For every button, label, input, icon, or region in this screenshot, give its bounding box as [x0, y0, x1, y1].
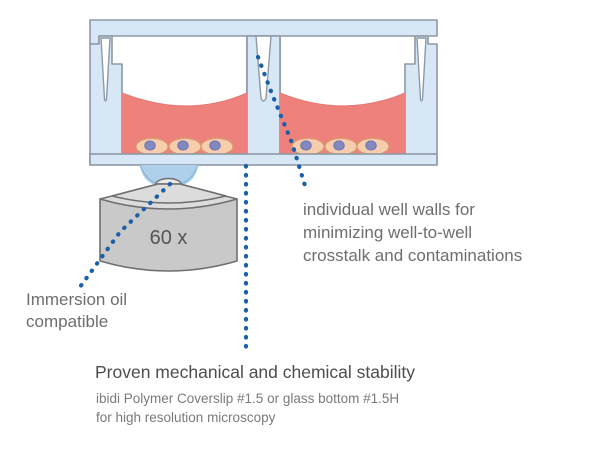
cell [292, 138, 324, 154]
callout-immersion-oil-line2: compatible [26, 312, 108, 331]
cell [136, 138, 168, 154]
polymer-coverslip-bottom [90, 154, 437, 165]
objective-magnification-label: 60 x [150, 227, 188, 249]
callout-well-walls-line1: individual well walls for [303, 200, 475, 219]
cell [169, 138, 201, 154]
microscope-objective: 60 x [100, 184, 237, 271]
cell-layer-right [292, 138, 389, 154]
cell-layer-left [136, 138, 233, 154]
cell [325, 138, 357, 154]
cell [201, 138, 233, 154]
cell [357, 138, 389, 154]
callout-stability-subline-2: for high resolution microscopy [96, 410, 276, 425]
callout-well-walls-line3: crosstalk and contaminations [303, 246, 522, 265]
callout-stability-heading: Proven mechanical and chemical stability [95, 362, 415, 382]
callout-immersion-oil-line1: Immersion oil [26, 290, 127, 309]
diagram-canvas: 60 x individual well walls for minimizin… [0, 0, 600, 449]
callout-stability-subline-1: ibidi Polymer Coverslip #1.5 or glass bo… [96, 391, 399, 406]
callout-well-walls-line2: minimizing well-to-well [303, 223, 472, 242]
